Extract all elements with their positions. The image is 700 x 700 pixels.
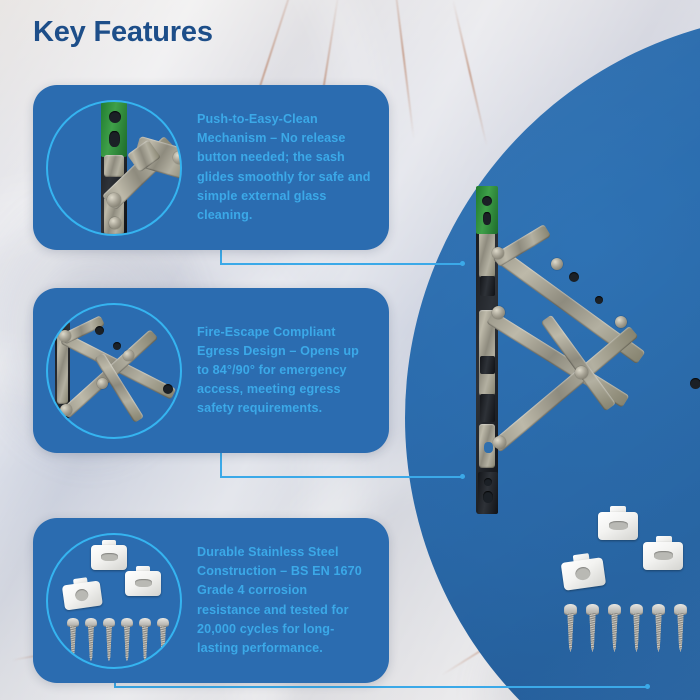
marble-vein: [452, 0, 487, 146]
cap-slot: [483, 212, 491, 225]
hinge-top-stub-arm: [492, 224, 551, 267]
hinge-pivot-pin: [493, 436, 506, 449]
marble-vein: [392, 0, 415, 139]
feature-card-fire-escape-egress[interactable]: Fire-Escape Compliant Egress Design – Op…: [33, 288, 389, 453]
connector-dot-2: [460, 474, 465, 479]
hero-accessories: [556, 500, 700, 660]
feature-text-2: Fire-Escape Compliant Egress Design – Op…: [189, 317, 389, 425]
connector-line-3: [114, 686, 648, 688]
screw: [652, 604, 665, 652]
cap-hole: [482, 196, 492, 206]
feature-thumbnail-3: [39, 526, 189, 676]
plastic-clip: [560, 551, 606, 591]
arm-end-hole: [690, 378, 700, 389]
screw: [564, 604, 577, 652]
screw: [674, 604, 687, 652]
connector-line-2: [220, 476, 462, 478]
connector-line-1: [220, 263, 462, 265]
feature-thumbnail-1: [39, 93, 189, 243]
feature-card-durable-stainless-steel[interactable]: Durable Stainless Steel Construction – B…: [33, 518, 389, 683]
feature-card-push-to-easy-clean[interactable]: Push-to-Easy-Clean Mechanism – No releas…: [33, 85, 389, 250]
thumbnail-ring-3: [46, 533, 182, 669]
poster-canvas: Key Features P: [0, 0, 700, 700]
green-plastic-cap: [476, 186, 498, 234]
arm-hole: [595, 296, 603, 304]
plastic-clip: [598, 506, 638, 540]
track-stop: [480, 276, 495, 296]
track-stop: [480, 356, 495, 374]
screw: [608, 604, 621, 652]
connector-dot-3: [645, 684, 650, 689]
connector-dot-1: [460, 261, 465, 266]
hero-product-friction-stay-hinge: [462, 188, 700, 518]
feature-text-3: Durable Stainless Steel Construction – B…: [189, 537, 389, 664]
hinge-pivot-pin: [492, 306, 505, 319]
page-title: Key Features: [33, 16, 213, 49]
screw: [586, 604, 599, 652]
thumbnail-ring-2: [46, 303, 182, 439]
hinge-pivot-pin: [551, 258, 563, 270]
hinge-pivot-pin: [575, 366, 588, 379]
track-fix-hole: [484, 478, 492, 486]
hinge-pivot-pin: [615, 316, 627, 328]
hinge-pivot-pin: [492, 247, 504, 259]
track-window-gap: [484, 442, 493, 453]
screw: [630, 604, 643, 652]
track-stop: [480, 394, 495, 422]
arm-hole: [569, 272, 579, 282]
thumbnail-ring-1: [46, 100, 182, 236]
track-fix-slot: [483, 491, 493, 503]
connector-line-vertical-2: [220, 452, 222, 477]
plastic-clip: [643, 536, 683, 570]
feature-thumbnail-2: [39, 296, 189, 446]
feature-text-1: Push-to-Easy-Clean Mechanism – No releas…: [189, 104, 389, 231]
